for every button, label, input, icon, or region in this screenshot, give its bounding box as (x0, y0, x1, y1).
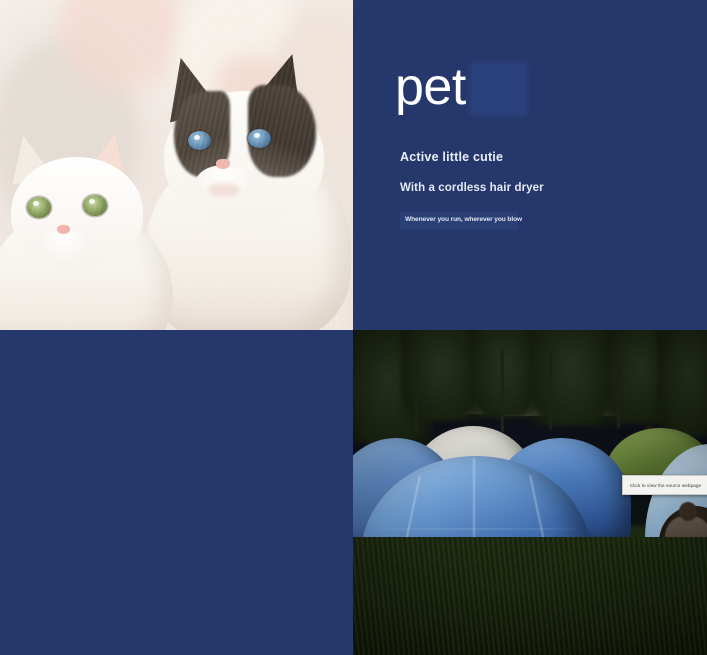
cat-eye-right (248, 129, 271, 148)
cats-photo[interactable] (0, 0, 353, 330)
pet-text-panel: pet Active little cutie With a cordless … (353, 0, 707, 330)
cats-photo-canvas (0, 0, 353, 330)
cat-white (0, 135, 175, 330)
source-webpage-tooltip-label: Click to view the source webpage (630, 483, 701, 488)
pet-title-highlight (470, 62, 528, 116)
pet-tagline-tertiary: Whenever you run, wherever you blow (405, 216, 522, 223)
tree (657, 330, 707, 436)
cat-eye-left (188, 131, 211, 150)
tree-trunk (549, 352, 552, 430)
tree-trunk (501, 350, 504, 432)
tent-seam (377, 528, 577, 530)
pet-tagline-tertiary-box: Whenever you run, wherever you blow (400, 212, 518, 230)
pet-tagline-primary: Active little cutie (400, 150, 503, 164)
tree (529, 330, 615, 426)
cat-nose (216, 159, 230, 169)
source-webpage-tooltip[interactable]: Click to view the source webpage (622, 475, 707, 495)
camping-photo[interactable]: Click to view the source webpage (353, 330, 707, 655)
camping-text-panel: Outdoor/camping What to do if there is n… (0, 330, 353, 655)
camping-photo-canvas: Click to view the source webpage (353, 330, 707, 655)
cat-eye-left (27, 197, 51, 218)
cat-eye-right (83, 195, 107, 216)
pet-tagline-secondary: With a cordless hair dryer (400, 182, 544, 194)
foreground-grass (353, 537, 707, 655)
cat-chin (208, 183, 240, 197)
tree-trunk (617, 356, 620, 428)
pet-title: pet (395, 61, 466, 113)
promo-board: pet Active little cutie With a cordless … (0, 0, 707, 655)
camper-adult-head (679, 502, 697, 521)
tree-trunk (415, 360, 418, 432)
cat-nose (57, 225, 70, 234)
